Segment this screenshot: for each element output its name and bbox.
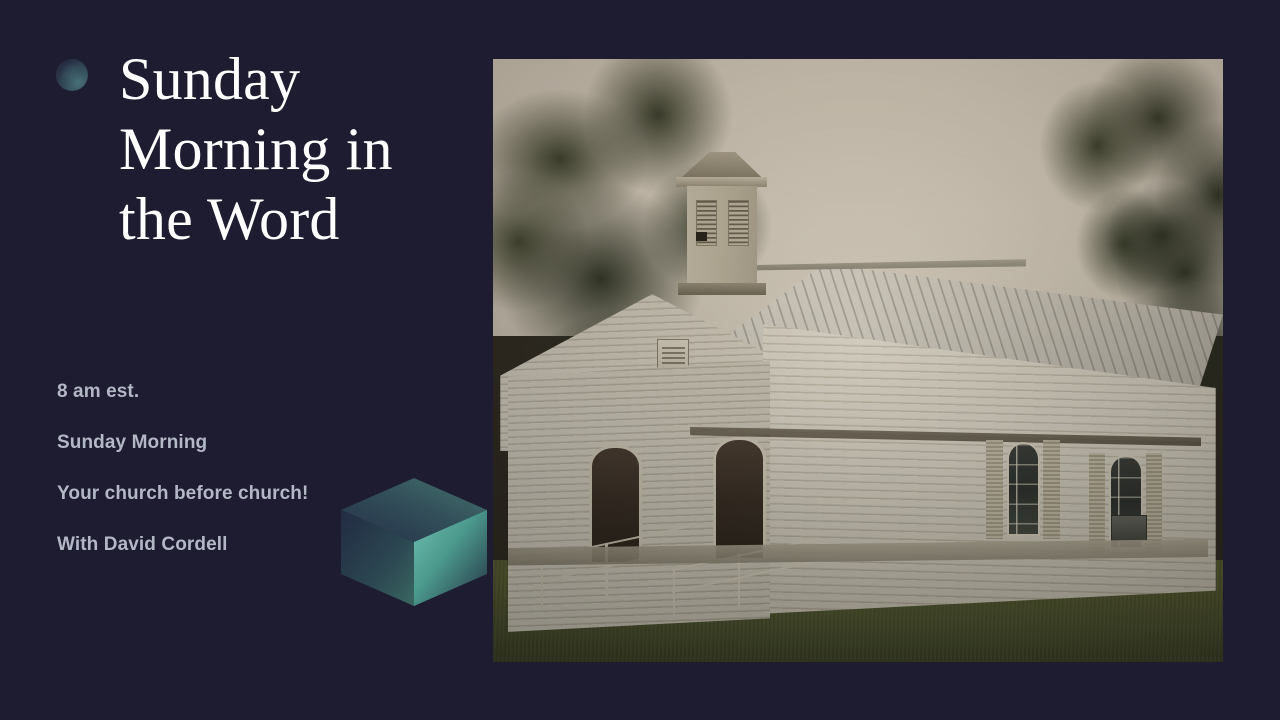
presentation-slide: Sunday Morning in the Word bbox=[0, 0, 1280, 720]
cupola-louver-right bbox=[728, 200, 749, 246]
church-photo-scene bbox=[493, 59, 1223, 662]
window-shutter bbox=[1043, 440, 1060, 539]
window-ac-unit bbox=[1111, 515, 1148, 542]
cupola-body bbox=[687, 186, 757, 286]
list-item: Sunday Morning bbox=[57, 417, 457, 468]
cupola-opening bbox=[696, 232, 707, 241]
window-shutter bbox=[1146, 453, 1163, 552]
window-shutter bbox=[986, 440, 1003, 539]
handrail-post bbox=[673, 568, 675, 617]
church-window bbox=[1007, 442, 1041, 536]
list-item: Your church before church! bbox=[57, 468, 457, 519]
page-title: Sunday Morning in the Word bbox=[119, 44, 449, 254]
cupola-base bbox=[678, 283, 766, 295]
bullet-list: 8 am est. Sunday Morning Your church bef… bbox=[57, 366, 457, 570]
list-item: 8 am est. bbox=[57, 366, 457, 417]
church-photo bbox=[493, 59, 1223, 662]
gradient-sphere-icon bbox=[56, 59, 88, 91]
window-shutter bbox=[1089, 453, 1106, 552]
church-door-right bbox=[716, 440, 763, 558]
list-item: With David Cordell bbox=[57, 519, 457, 570]
